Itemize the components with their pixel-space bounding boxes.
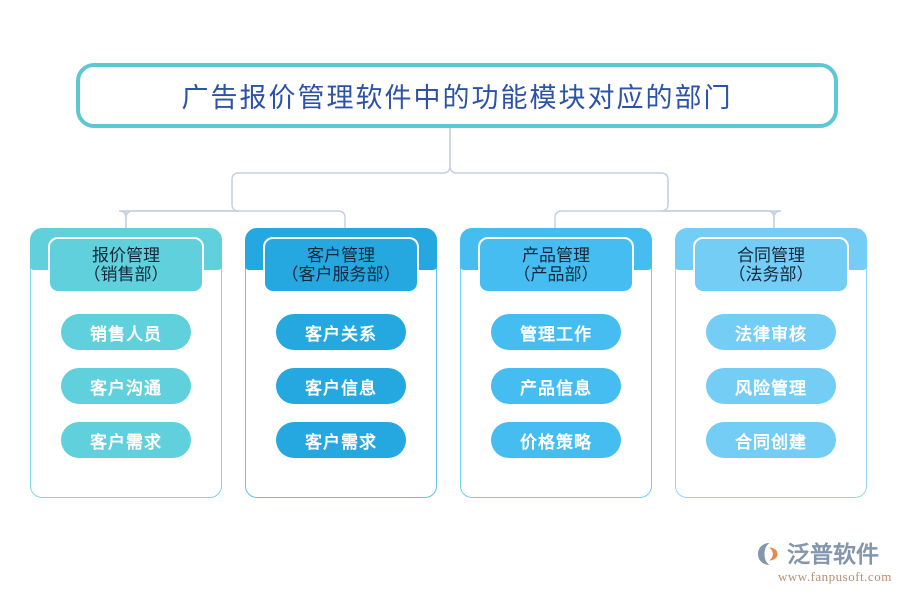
column-quotation-management[interactable]: 报价管理 （销售部） 销售人员 客户沟通 客户需求	[30, 228, 222, 498]
column-header: 报价管理 （销售部）	[48, 237, 204, 293]
list-item[interactable]: 风险管理	[706, 368, 836, 404]
list-item[interactable]: 合同创建	[706, 422, 836, 458]
list-item[interactable]: 管理工作	[491, 314, 621, 350]
diagram-canvas: 广告报价管理软件中的功能模块对应的部门 报价管理 （销售部） 销售人员	[0, 0, 900, 600]
column-header: 客户管理 （客户服务部）	[263, 237, 419, 293]
column-items: 销售人员 客户沟通 客户需求	[30, 314, 222, 458]
list-item[interactable]: 法律审核	[706, 314, 836, 350]
column-header-line1: 报价管理	[92, 246, 160, 265]
list-item[interactable]: 客户信息	[276, 368, 406, 404]
column-customer-management[interactable]: 客户管理 （客户服务部） 客户关系 客户信息 客户需求	[245, 228, 437, 498]
column-header-line2: （客户服务部）	[282, 265, 401, 284]
column-product-management[interactable]: 产品管理 （产品部） 管理工作 产品信息 价格策略	[460, 228, 652, 498]
list-item[interactable]: 客户关系	[276, 314, 406, 350]
column-contract-management[interactable]: 合同管理 （法务部） 法律审核 风险管理 合同创建	[675, 228, 867, 498]
list-item[interactable]: 销售人员	[61, 314, 191, 350]
logo-website-url: www.fanpusoft.com	[778, 569, 896, 585]
column-items: 客户关系 客户信息 客户需求	[245, 314, 437, 458]
column-items: 管理工作 产品信息 价格策略	[460, 314, 652, 458]
column-header: 合同管理 （法务部）	[693, 237, 849, 293]
list-item[interactable]: 客户沟通	[61, 368, 191, 404]
column-header-line2: （产品部）	[514, 265, 599, 284]
logo-row: 泛普软件	[756, 541, 896, 567]
diagram-title-box: 广告报价管理软件中的功能模块对应的部门	[76, 63, 838, 128]
column-header: 产品管理 （产品部）	[478, 237, 634, 293]
logo-company-name: 泛普软件	[787, 543, 879, 566]
fanpu-logo-icon	[756, 541, 784, 567]
list-item[interactable]: 价格策略	[491, 422, 621, 458]
list-item[interactable]: 客户需求	[276, 422, 406, 458]
column-header-line2: （销售部）	[84, 265, 169, 284]
list-item[interactable]: 产品信息	[491, 368, 621, 404]
column-items: 法律审核 风险管理 合同创建	[675, 314, 867, 458]
watermark-logo: 泛普软件 www.fanpusoft.com	[756, 541, 896, 589]
page-title: 广告报价管理软件中的功能模块对应的部门	[182, 76, 733, 115]
column-header-line1: 产品管理	[522, 246, 590, 265]
column-header-line1: 合同管理	[737, 246, 805, 265]
column-header-line2: （法务部）	[729, 265, 814, 284]
list-item[interactable]: 客户需求	[61, 422, 191, 458]
column-header-line1: 客户管理	[307, 246, 375, 265]
